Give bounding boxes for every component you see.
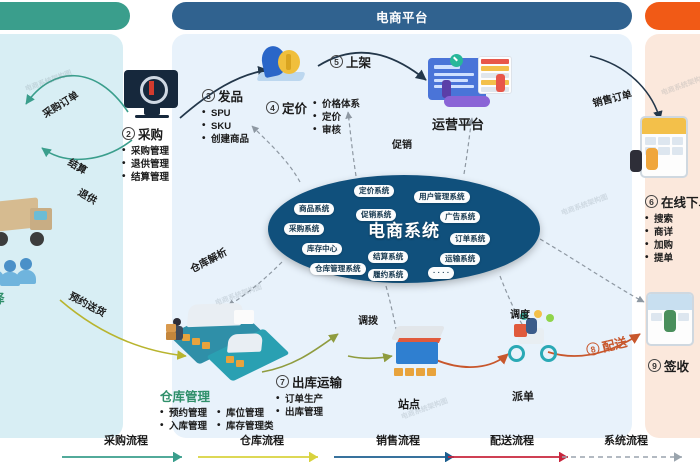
list-item: 退供管理	[122, 158, 169, 171]
station-label: 站点	[398, 396, 420, 412]
step-number-3: 3	[202, 89, 215, 102]
header-pill-sales	[645, 2, 700, 30]
legend-label: 采购流程	[104, 432, 148, 448]
procurement-monitor-illustration	[124, 70, 180, 118]
list-item: 定价	[313, 111, 360, 124]
list-item: 商详	[645, 226, 700, 239]
node-listing[interactable]: 5 上架	[330, 52, 371, 71]
legend-item-system[interactable]: 系统流程	[562, 432, 690, 466]
legend-item-procurement[interactable]: 采购流程	[62, 432, 190, 466]
sign-label: 签收	[664, 356, 689, 375]
module-chip[interactable]: 促销系统	[356, 209, 396, 221]
supplier-people-icon	[0, 258, 40, 288]
edge-label-scheduling: 调度	[510, 306, 530, 321]
list-item: 供应商管理	[0, 322, 5, 335]
outbound-bullets: 订单生产 出库管理	[276, 393, 342, 419]
supplier-truck-illustration	[0, 196, 56, 248]
online-order-label: 在线下单	[661, 192, 700, 211]
legend-label: 系统流程	[604, 432, 648, 448]
supplier-bullets: 供应商入驻 供应商管理 合同管理	[0, 309, 5, 348]
node-ops-platform[interactable]: 运营平台	[432, 114, 484, 133]
pricing-bullets: 价格体系 定价 审核	[313, 98, 360, 137]
legend-item-sales[interactable]: 销售流程	[334, 432, 462, 466]
publish-bullets: SPU SKU 创建商品	[202, 107, 249, 146]
legend-arrow-icon	[62, 452, 190, 462]
legend-item-delivery[interactable]: 配送流程	[448, 432, 576, 466]
list-item: 审核	[313, 124, 360, 137]
sign-receive-phone-illustration	[646, 292, 694, 346]
module-chip[interactable]: 结算系统	[368, 251, 408, 263]
listing-label: 上架	[346, 52, 371, 71]
step-number-9: 9	[648, 359, 661, 372]
module-chip[interactable]: 采购系统	[284, 223, 324, 235]
sign-title: 9 签收	[648, 356, 689, 375]
online-order-title: 6 在线下单	[645, 192, 700, 211]
dispatch-rider-illustration	[500, 314, 564, 364]
step-number-2: 2	[122, 127, 135, 140]
step-number-8: 8	[585, 341, 601, 357]
step-number-4: 4	[266, 101, 279, 114]
diagram-canvas: 电商平台	[0, 0, 700, 470]
node-pricing[interactable]: 4 定价 价格体系 定价 审核	[266, 98, 360, 137]
publish-title: 3 发品	[202, 86, 249, 105]
dispatch-label: 派单	[512, 388, 534, 404]
outbound-label: 出库运输	[292, 372, 342, 391]
online-shopper-icon	[630, 146, 664, 176]
list-item: 加购	[645, 239, 700, 252]
list-item: 订单生产	[276, 393, 342, 406]
publish-coins-illustration	[258, 44, 304, 84]
edge-label-transfer: 调拨	[358, 312, 378, 327]
module-chip[interactable]: · · · ·	[428, 267, 454, 279]
ecommerce-system-ellipse[interactable]: 电商系统 商品系统 定价系统 用户管理系统 促销系统 广告系统 采购系统 订单系…	[268, 175, 540, 283]
module-chip[interactable]: 仓库管理系统	[310, 263, 366, 275]
legend-arrow-icon	[448, 452, 576, 462]
ops-platform-label: 运营平台	[432, 114, 484, 133]
list-item: 采购管理	[122, 145, 169, 158]
list-item: SPU	[202, 107, 249, 120]
module-chip[interactable]: 广告系统	[440, 211, 480, 223]
node-dispatch[interactable]: 派单	[512, 388, 534, 404]
node-supplier[interactable]: 供应商选择 供应商入驻 供应商管理 合同管理	[0, 288, 5, 348]
outbound-title: 7 出库运输	[276, 372, 342, 391]
station-illustration	[388, 324, 452, 378]
node-outbound[interactable]: 7 出库运输 订单生产 出库管理	[276, 372, 342, 419]
legend-arrow-icon	[334, 452, 462, 462]
legend-label: 销售流程	[376, 432, 420, 448]
edge-label-promotion: 促销	[392, 136, 412, 151]
legend: 采购流程 仓库流程 销售流程 配送流程	[0, 426, 700, 466]
module-chip[interactable]: 商品系统	[294, 203, 334, 215]
module-chip[interactable]: 订单系统	[450, 233, 490, 245]
node-station[interactable]: 站点	[398, 396, 420, 412]
publish-label: 发品	[218, 86, 243, 105]
procurement-label: 采购	[138, 124, 163, 143]
module-chip[interactable]: 库存中心	[302, 243, 342, 255]
list-item: SKU	[202, 120, 249, 133]
legend-label: 仓库流程	[240, 432, 284, 448]
list-item: 提单	[645, 252, 700, 265]
node-online-order[interactable]: 6 在线下单 搜索 商详 加购 提单	[645, 192, 700, 265]
supplier-title: 供应商选择	[0, 288, 5, 307]
warehouse-label: 仓库管理	[160, 386, 210, 405]
module-chip[interactable]: 用户管理系统	[414, 191, 470, 203]
node-publish[interactable]: 3 发品 SPU SKU 创建商品	[202, 86, 249, 146]
procurement-bullets: 采购管理 退供管理 结算管理	[122, 145, 169, 184]
step-number-5: 5	[330, 55, 343, 68]
procurement-title: 2 采购	[122, 124, 169, 143]
node-sign[interactable]: 9 签收	[648, 356, 689, 375]
header-pill-platform: 电商平台	[172, 2, 632, 30]
list-item: 价格体系	[313, 98, 360, 111]
module-chip[interactable]: 履约系统	[368, 269, 408, 281]
warehouse-illustration	[172, 300, 292, 378]
list-item: 结算管理	[122, 171, 169, 184]
pricing-label: 定价	[282, 98, 307, 117]
list-item: 出库管理	[276, 406, 342, 419]
legend-arrow-icon	[198, 452, 326, 462]
list-item: 预约管理	[160, 407, 207, 420]
module-chip[interactable]: 运输系统	[440, 253, 480, 265]
module-chip[interactable]: 定价系统	[354, 185, 394, 197]
header-pill-procurement	[0, 2, 130, 30]
step-number-7: 7	[276, 375, 289, 388]
legend-item-warehouse[interactable]: 仓库流程	[198, 432, 326, 466]
list-item: 合同管理	[0, 335, 5, 348]
legend-label: 配送流程	[490, 432, 534, 448]
ops-platform-illustration	[424, 56, 512, 112]
online-order-bullets: 搜索 商详 加购 提单	[645, 213, 700, 265]
node-procurement[interactable]: 2 采购 采购管理 退供管理 结算管理	[122, 124, 169, 184]
warehouse-title: 仓库管理	[160, 386, 274, 405]
warehouse-worker-icon	[168, 318, 186, 348]
list-item: 搜索	[645, 213, 700, 226]
list-item: 库位管理	[217, 407, 274, 420]
pricing-title: 4 定价	[266, 98, 307, 117]
list-item: 供应商入驻	[0, 309, 5, 322]
list-item: 创建商品	[202, 133, 249, 146]
step-number-6: 6	[645, 195, 658, 208]
legend-arrow-icon	[562, 452, 690, 462]
